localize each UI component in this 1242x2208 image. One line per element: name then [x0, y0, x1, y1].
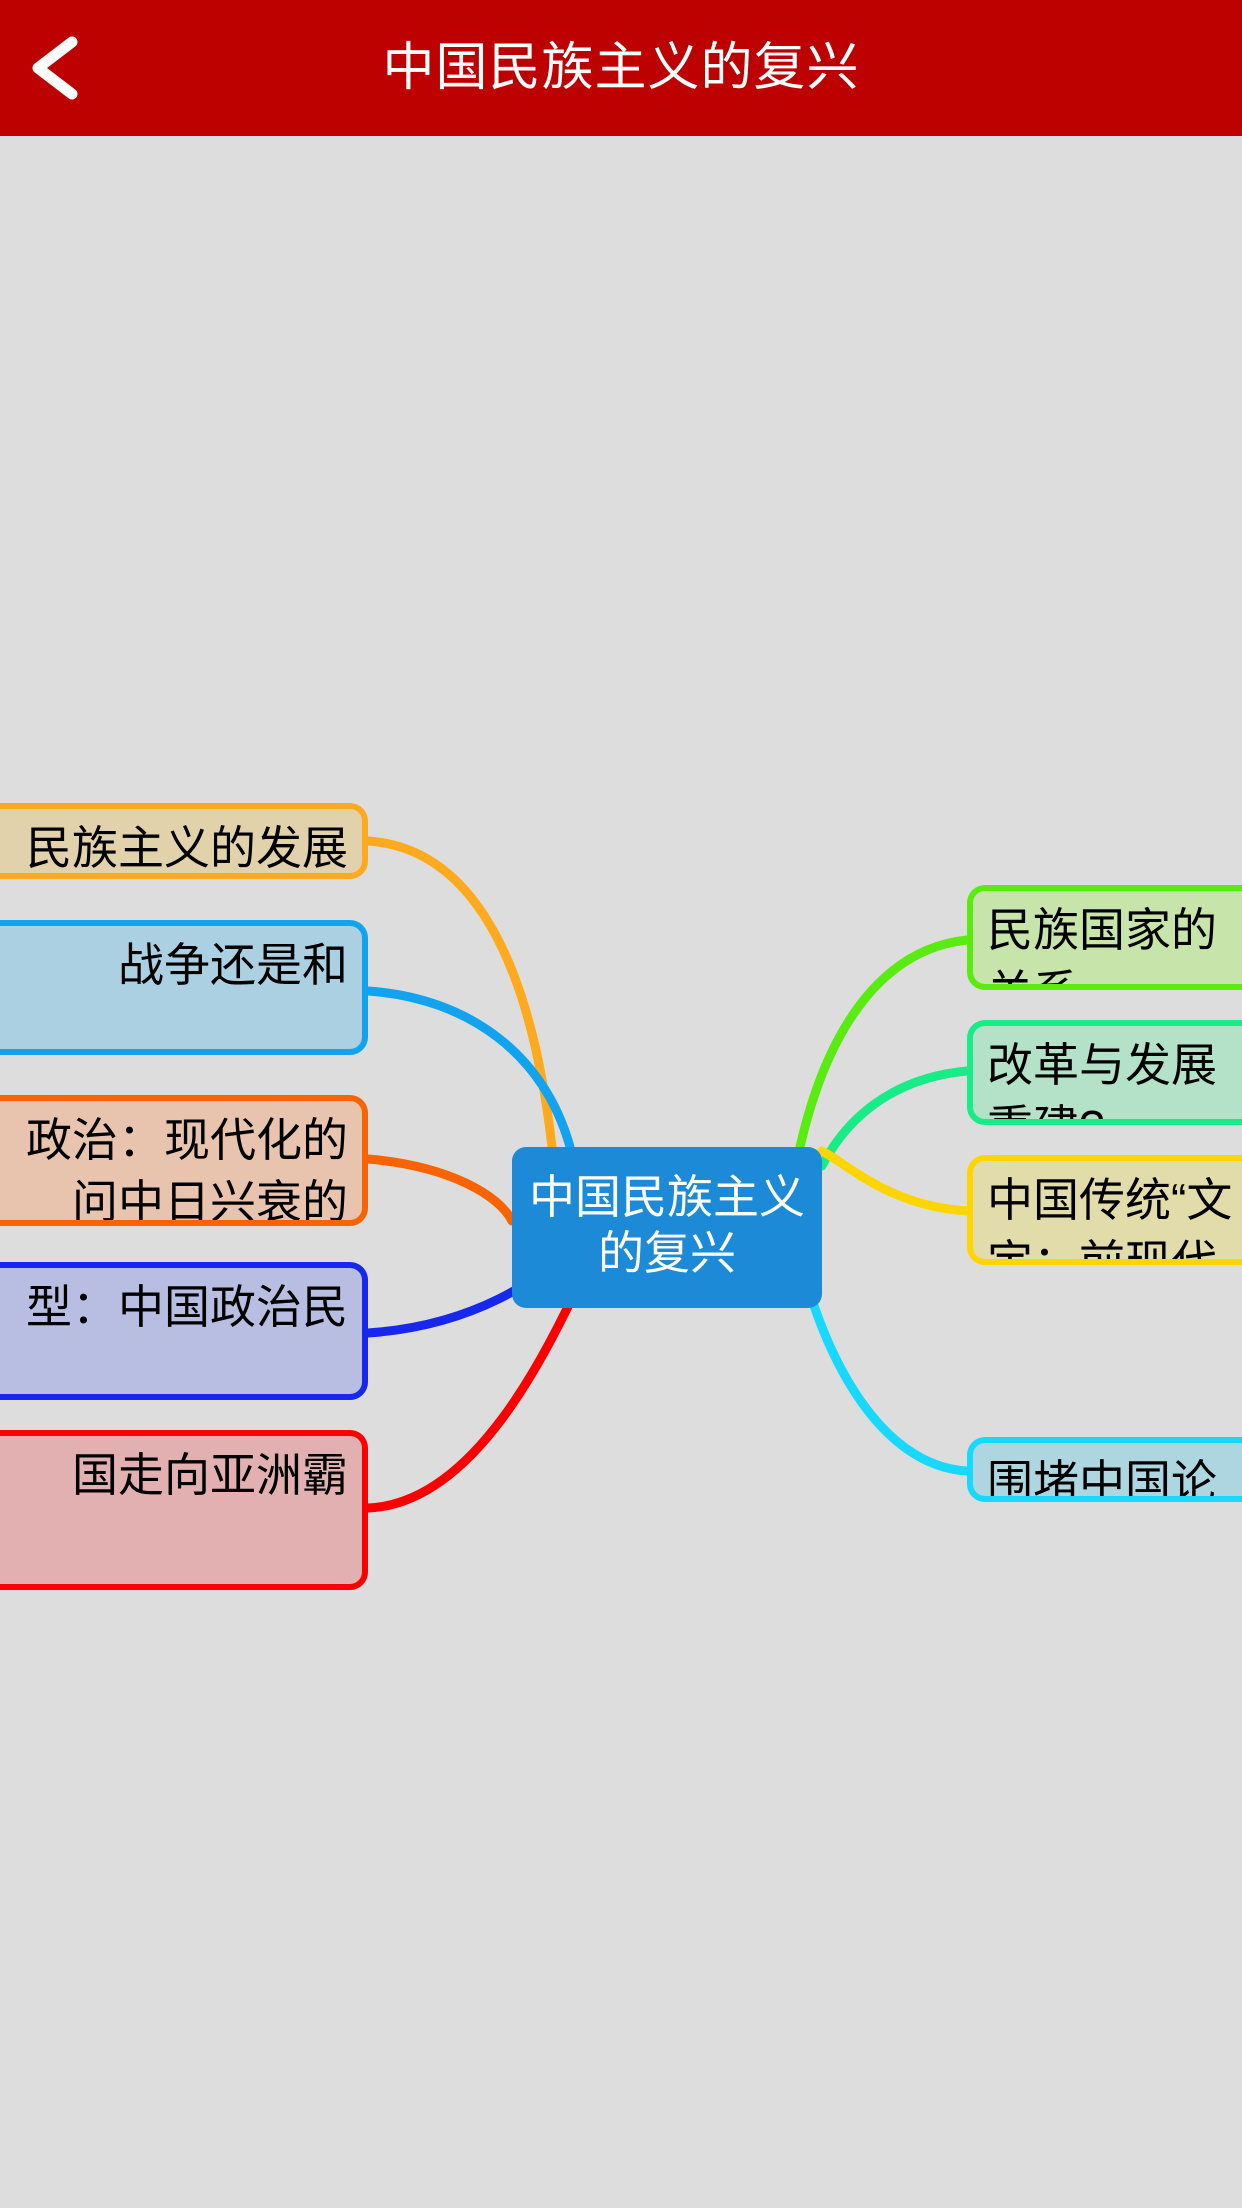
mindmap-node-right-3[interactable]: 中国传统“文 定：前现代 [967, 1155, 1242, 1265]
mindmap-node-right-1[interactable]: 民族国家的 关系 [967, 885, 1242, 990]
page-title: 中国民族主义的复兴 [0, 0, 1242, 136]
mindmap-node-right-4[interactable]: 围堵中国论 [967, 1437, 1242, 1502]
mindmap-canvas[interactable]: 民族主义的发展战争还是和政治：现代化的 问中日兴衰的型：中国政治民国走向亚洲霸民… [0, 136, 1242, 2208]
app-screen: 中国民族主义的复兴 民族主义的发展战争还是和政治：现代化的 问中日兴衰的型：中国… [0, 0, 1242, 2208]
mindmap-node-left-1[interactable]: 民族主义的发展 [0, 803, 368, 879]
mindmap-root-node[interactable]: 中国民族主义 的复兴 [512, 1147, 822, 1308]
edge-root-to-left-3 [368, 1159, 512, 1221]
mindmap-node-left-2[interactable]: 战争还是和 [0, 920, 368, 1055]
edge-root-to-right-3 [822, 1151, 967, 1211]
edge-root-to-left-1 [368, 841, 552, 1147]
edge-root-to-right-2 [822, 1071, 967, 1166]
mindmap-node-left-3[interactable]: 政治：现代化的 问中日兴衰的 [0, 1095, 368, 1226]
mindmap-node-left-4[interactable]: 型：中国政治民 [0, 1262, 368, 1400]
mindmap-node-right-2[interactable]: 改革与发展 重建? [967, 1020, 1242, 1125]
edge-root-to-left-2 [368, 991, 570, 1147]
app-header: 中国民族主义的复兴 [0, 0, 1242, 136]
edge-root-to-right-1 [800, 940, 967, 1147]
mindmap-node-left-5[interactable]: 国走向亚洲霸 [0, 1430, 368, 1590]
